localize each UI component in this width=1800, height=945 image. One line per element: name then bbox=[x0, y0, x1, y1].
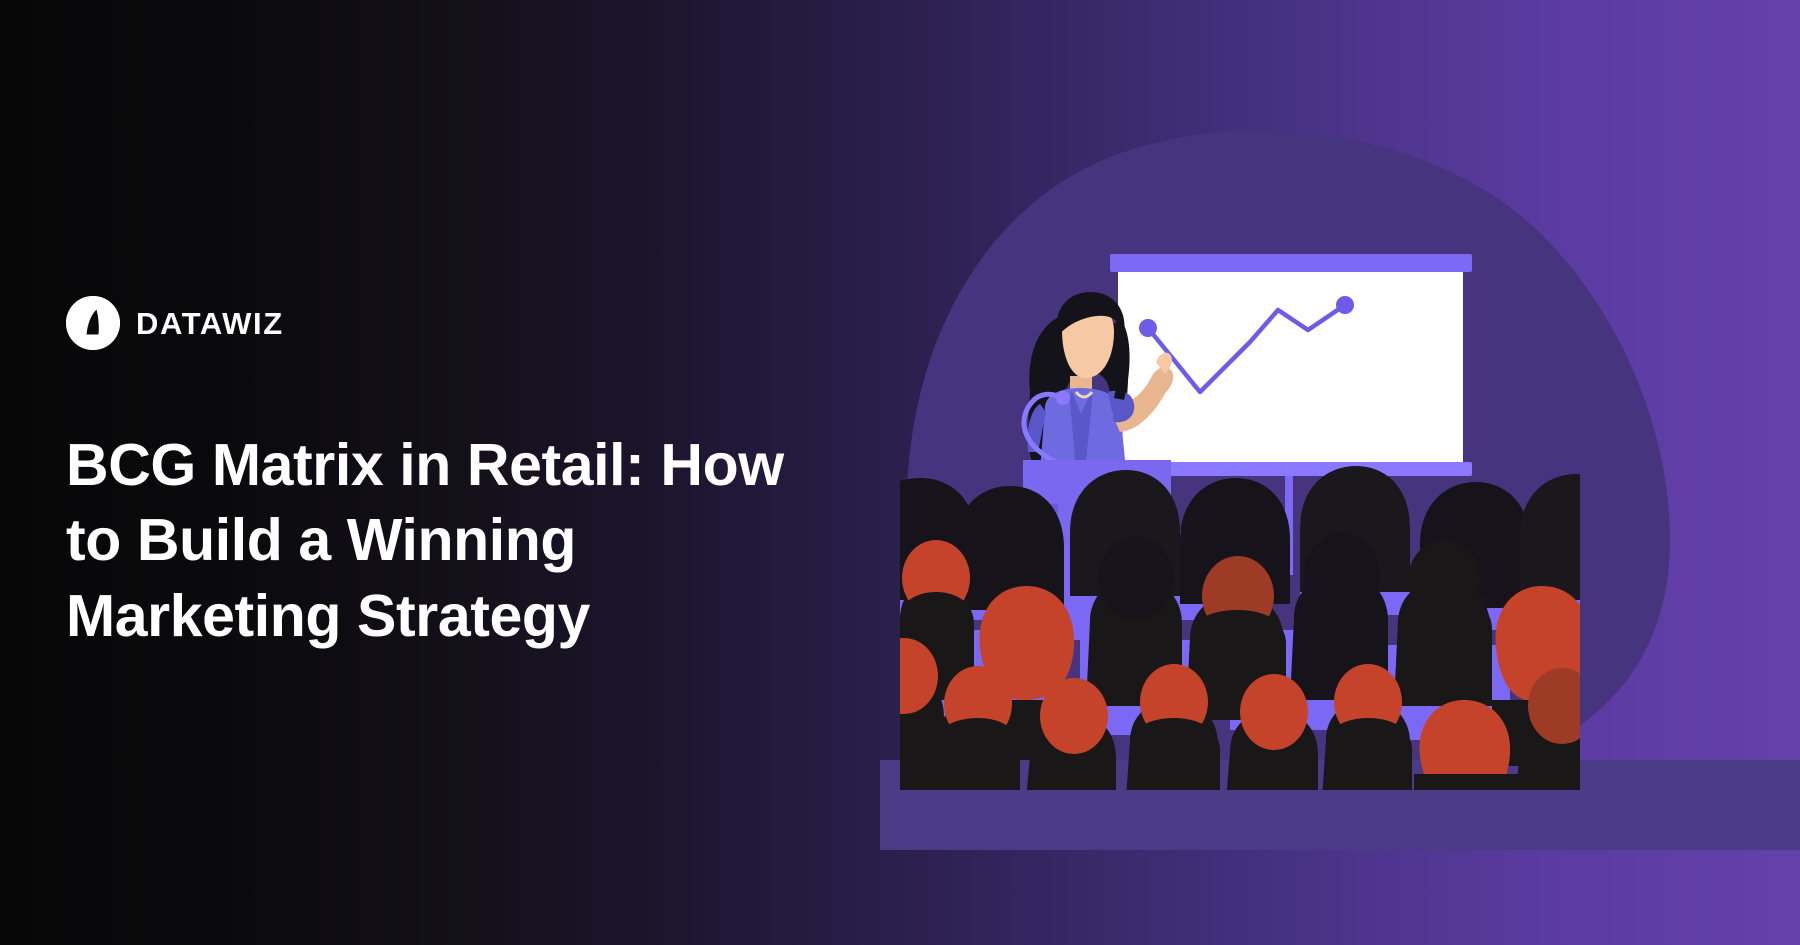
page-title-line-3: Marketing Strategy bbox=[66, 579, 826, 655]
brand-logo[interactable]: DATAWIZ bbox=[66, 296, 284, 350]
front-floor-strip bbox=[880, 790, 1800, 850]
brand-name: DATAWIZ bbox=[136, 308, 284, 339]
hero-banner: DATAWIZ BCG Matrix in Retail: How to Bui… bbox=[0, 0, 1800, 945]
chart-marker-end bbox=[1336, 296, 1354, 314]
page-title-line-2: to Build a Winning bbox=[66, 503, 826, 579]
audience bbox=[880, 466, 1630, 800]
microphone-head bbox=[1056, 391, 1070, 405]
conference-illustration bbox=[880, 0, 1800, 945]
datawiz-drop-circle-icon bbox=[66, 296, 120, 350]
page-title: BCG Matrix in Retail: How to Build a Win… bbox=[66, 428, 826, 655]
chart-marker-start bbox=[1139, 319, 1157, 337]
screen-top-bar bbox=[1110, 254, 1472, 272]
page-title-line-1: BCG Matrix in Retail: How bbox=[66, 428, 826, 504]
